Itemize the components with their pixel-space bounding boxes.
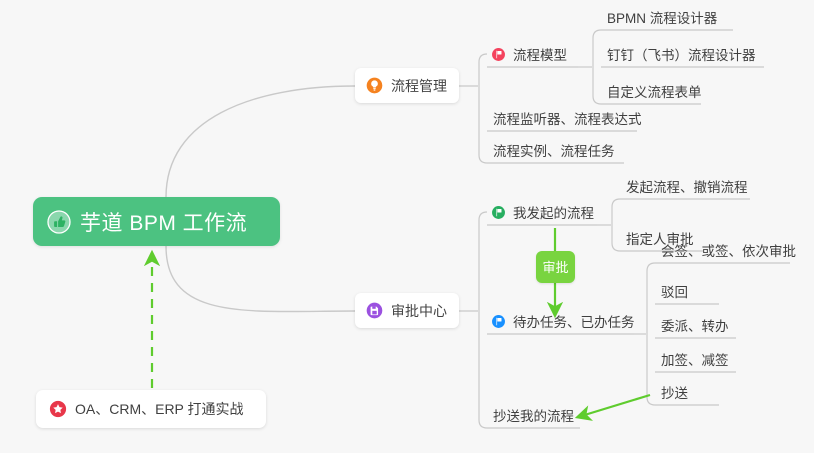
star-icon: [49, 400, 67, 418]
branch-node-approval-center[interactable]: 审批中心: [355, 293, 459, 328]
branch-node-process-management[interactable]: 流程管理: [355, 68, 459, 103]
leaf-node-bpmn-designer[interactable]: BPMN 流程设计器: [601, 4, 727, 30]
sub-node-process-model[interactable]: 流程模型: [487, 41, 577, 67]
leaf-node-cc-my-process[interactable]: 抄送我的流程: [487, 402, 584, 428]
edge-root-to-process-management: [166, 86, 355, 197]
leaf-node-process-instance-task[interactable]: 流程实例、流程任务: [487, 137, 625, 163]
sub-node-my-started-process[interactable]: 我发起的流程: [487, 199, 604, 225]
root-node[interactable]: 芋道 BPM 工作流: [33, 197, 280, 246]
leaf-node-custom-process-form[interactable]: 自定义流程表单: [601, 78, 712, 104]
leaf-node-countersign-orsign-sequential[interactable]: 会签、或签、依次审批: [655, 237, 806, 263]
flag-icon: [491, 205, 506, 220]
thumbs-up-icon: [47, 210, 71, 234]
flag-icon: [491, 314, 506, 329]
document-icon: [366, 302, 383, 319]
branch-label-approval-center: 审批中心: [391, 301, 447, 321]
arrow-carbon-copy-to-cc-my-process: [578, 395, 650, 417]
integration-note-label: OA、CRM、ERP 打通实战: [75, 399, 244, 419]
leaf-node-dingtalk-feishu-designer[interactable]: 钉钉（飞书）流程设计器: [601, 41, 766, 67]
edge-root-to-approval-center: [166, 246, 355, 312]
root-label: 芋道 BPM 工作流: [80, 207, 247, 237]
integration-note-node[interactable]: OA、CRM、ERP 打通实战: [36, 390, 266, 428]
mindmap-canvas: 芋道 BPM 工作流 流程管理 审批中心: [0, 0, 814, 453]
leaf-node-start-cancel-process[interactable]: 发起流程、撤销流程: [620, 173, 758, 199]
leaf-node-process-listener-expression[interactable]: 流程监听器、流程表达式: [487, 105, 652, 131]
approval-tag[interactable]: 审批: [536, 251, 575, 283]
sub-label-my-started-process: 我发起的流程: [513, 202, 594, 222]
sub-label-process-model: 流程模型: [513, 44, 567, 64]
flag-icon: [491, 47, 506, 62]
sub-node-todo-done-tasks[interactable]: 待办任务、已办任务: [487, 308, 645, 334]
approval-tag-label: 审批: [542, 261, 568, 274]
leaf-node-add-remove-sign[interactable]: 加签、减签: [655, 346, 739, 372]
branch-label-process-management: 流程管理: [391, 76, 447, 96]
leaf-node-carbon-copy[interactable]: 抄送: [655, 379, 698, 405]
lightbulb-icon: [366, 77, 383, 94]
leaf-node-reject[interactable]: 驳回: [655, 278, 698, 304]
leaf-node-delegate-transfer[interactable]: 委派、转办: [655, 312, 739, 338]
sub-label-todo-done-tasks: 待办任务、已办任务: [513, 311, 635, 331]
